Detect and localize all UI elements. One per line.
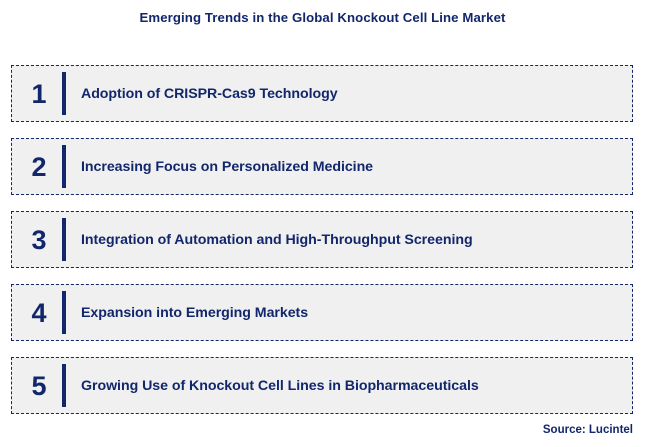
page-title: Emerging Trends in the Global Knockout C… (0, 10, 645, 26)
trend-number: 2 (12, 152, 59, 182)
trend-row: 1 Adoption of CRISPR-Cas9 Technology (11, 65, 633, 122)
trend-label: Growing Use of Knockout Cell Lines in Bi… (66, 377, 632, 395)
source-attribution: Source: Lucintel (543, 423, 633, 437)
trend-row: 3 Integration of Automation and High-Thr… (11, 211, 633, 268)
trend-number: 1 (12, 79, 59, 109)
trend-label: Increasing Focus on Personalized Medicin… (66, 158, 632, 176)
trend-list: 1 Adoption of CRISPR-Cas9 Technology 2 I… (11, 65, 633, 414)
trend-row: 5 Growing Use of Knockout Cell Lines in … (11, 357, 633, 414)
trend-label: Integration of Automation and High-Throu… (66, 231, 632, 249)
trend-number: 4 (12, 298, 59, 328)
trend-number: 5 (12, 371, 59, 401)
emerging-trends-infographic: Emerging Trends in the Global Knockout C… (0, 0, 645, 447)
trend-number: 3 (12, 225, 59, 255)
trend-row: 2 Increasing Focus on Personalized Medic… (11, 138, 633, 195)
trend-label: Expansion into Emerging Markets (66, 304, 632, 322)
trend-label: Adoption of CRISPR-Cas9 Technology (66, 85, 632, 103)
trend-row: 4 Expansion into Emerging Markets (11, 284, 633, 341)
